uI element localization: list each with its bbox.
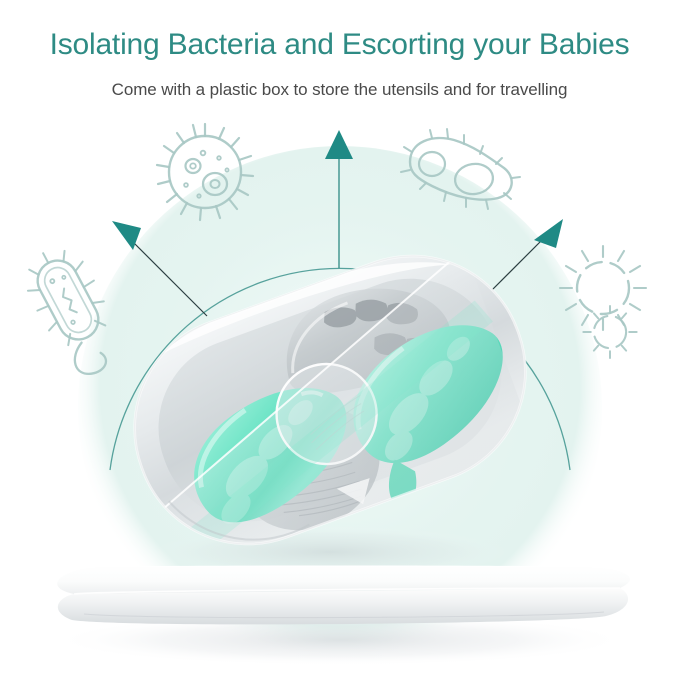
product-drop-shadow	[150, 526, 510, 578]
page-subtitle: Come with a plastic box to store the ute…	[0, 80, 679, 100]
case-rim-highlight	[103, 224, 557, 575]
mint-spoon	[170, 357, 370, 545]
case-top-sheen	[148, 234, 451, 371]
sun-germ-small-icon	[583, 306, 636, 358]
product-marketing-graphic: Isolating Bacteria and Escorting your Ba…	[0, 0, 679, 679]
sun-germ-large-icon	[560, 246, 646, 330]
case-rim-shade	[169, 459, 310, 569]
case-lid-glass	[113, 249, 537, 576]
pedestal-top	[57, 566, 630, 595]
round-spiky-bacteria-icon	[157, 124, 253, 220]
rod-shaped-bacteria-icon	[15, 238, 133, 383]
page-title: Isolating Bacteria and Escorting your Ba…	[0, 28, 679, 62]
case-center-divider	[263, 350, 391, 478]
scene-illustration	[0, 0, 679, 679]
protective-dome-halo	[78, 146, 602, 670]
spoon-bowl-grey	[220, 384, 402, 554]
escape-arrows-group	[112, 130, 563, 316]
pedestal-face	[58, 588, 628, 624]
case-outer-shell	[103, 224, 557, 575]
escape-arrow-right	[470, 219, 563, 312]
escape-arrow-left	[112, 221, 207, 316]
mint-fork	[319, 295, 543, 512]
display-pedestal	[50, 566, 630, 667]
bean-shaped-bacteria-icon	[401, 129, 520, 209]
lid-mint-tint	[146, 297, 534, 555]
case-inner-cavity	[133, 253, 527, 546]
baby-utensil-travel-case	[101, 219, 564, 589]
escape-arrow-center	[325, 130, 353, 268]
fork-tines-grey	[278, 278, 457, 398]
